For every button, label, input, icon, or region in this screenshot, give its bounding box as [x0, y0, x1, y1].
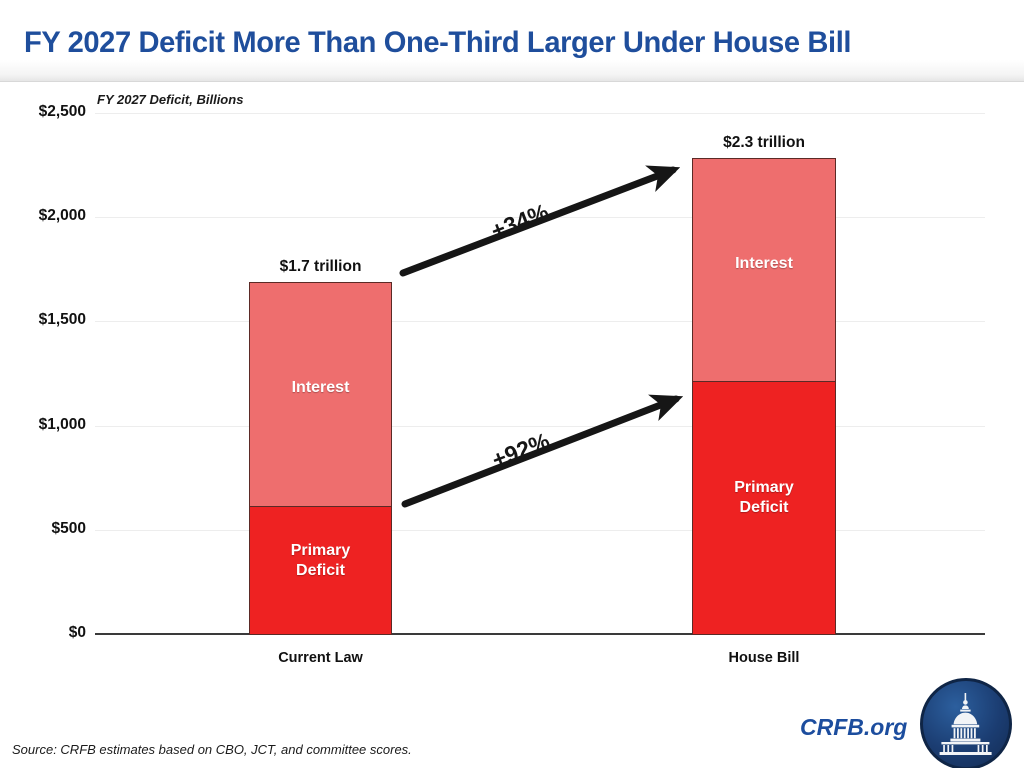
segment-label-primary-deficit-line2: Deficit	[693, 498, 835, 518]
x-axis-label-house-bill: House Bill	[692, 650, 836, 666]
chart-page: FY 2027 Deficit More Than One-Third Larg…	[0, 0, 1024, 768]
segment-label-primary-deficit-line1: Primary	[250, 541, 391, 561]
plot-area	[95, 113, 985, 634]
source-note: Source: CRFB estimates based on CBO, JCT…	[12, 742, 412, 757]
x-axis-line	[95, 633, 985, 635]
bar-total-label-house-bill: $2.3 trillion	[692, 134, 836, 152]
y-tick-0: $0	[2, 624, 86, 642]
bar-segment-primary-deficit-house-bill[interactable]: Primary Deficit	[692, 381, 836, 635]
gridline-2500	[95, 113, 985, 114]
y-tick-2000: $2,000	[2, 207, 86, 225]
segment-label-primary-deficit-line2: Deficit	[250, 561, 391, 581]
axis-unit-label: FY 2027 Deficit, Billions	[97, 92, 243, 107]
capitol-dome-glyph	[935, 693, 997, 755]
x-axis-label-current-law: Current Law	[249, 650, 392, 666]
segment-label-primary-deficit-line1: Primary	[693, 478, 835, 498]
bar-segment-primary-deficit-current-law[interactable]: Primary Deficit	[249, 506, 392, 635]
brand-wordmark[interactable]: CRFB.org	[800, 714, 907, 741]
capitol-dome-icon[interactable]	[920, 678, 1012, 768]
segment-label-interest: Interest	[250, 378, 391, 398]
gridline-1500	[95, 321, 985, 322]
y-tick-1000: $1,000	[2, 416, 86, 434]
segment-label-interest: Interest	[693, 254, 835, 274]
gridline-500	[95, 530, 985, 531]
bar-segment-interest-current-law[interactable]: Interest	[249, 282, 392, 507]
page-title: FY 2027 Deficit More Than One-Third Larg…	[24, 26, 975, 60]
bar-total-label-current-law: $1.7 trillion	[249, 258, 392, 276]
gridline-1000	[95, 426, 985, 427]
y-tick-2500: $2,500	[2, 103, 86, 121]
y-tick-500: $500	[2, 520, 86, 538]
bar-segment-interest-house-bill[interactable]: Interest	[692, 158, 836, 382]
y-tick-1500: $1,500	[2, 311, 86, 329]
